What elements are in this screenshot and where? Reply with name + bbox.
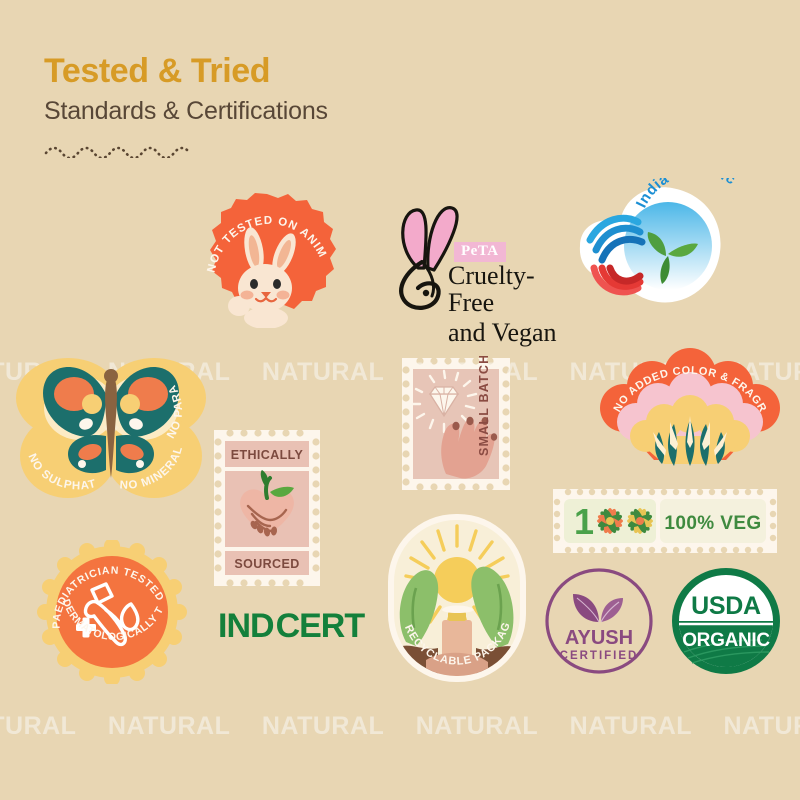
indocert-text-part-2: CERT (276, 607, 365, 646)
not-tested-on-animals-badge[interactable]: NOT TESTED ON ANIMALS (192, 188, 342, 328)
usda-organic-icon: USDA ORGANIC (670, 566, 782, 676)
india-organic-swoosh-icon: India Organic (568, 178, 748, 318)
ethically-sourced-stamp-icon: ETHICALLY SOURCED (212, 428, 322, 588)
watermark-text: NATURAL (0, 712, 76, 752)
small-batch-stamp[interactable]: SMALL BATCH (400, 356, 512, 492)
certifications-poster: NATURAL NATURAL NATURAL NATURAL NATURAL … (0, 0, 800, 800)
watermark-text: NATURAL (262, 358, 384, 398)
watermark-row-bottom: NATURAL NATURAL NATURAL NATURAL NATURAL … (0, 712, 800, 752)
watermark-text: NATURAL (570, 712, 692, 752)
page-title: Tested & Tried (44, 52, 328, 91)
paediatrician-seal-icon: PAEDIATRICIAN TESTED DERMATOLOGICALLY TE… (32, 540, 192, 684)
ethically-label: ETHICALLY (231, 448, 304, 462)
ayush-certified-badge[interactable]: AYUSH CERTIFIED (543, 566, 655, 676)
no-added-color-and-fragrance-badge[interactable]: NO ADDED COLOR & FRAGRANCE (596, 342, 784, 472)
ayush-line-2: CERTIFIED (560, 650, 639, 662)
not-tested-on-animals-seal-icon: NOT TESTED ON ANIMALS (192, 188, 342, 328)
page-header: Tested & Tried Standards & Certification… (44, 52, 328, 163)
india-organic-badge[interactable]: India Organic (568, 178, 748, 318)
watermark-text: NATURAL (724, 712, 800, 752)
usda-line-1: USDA (691, 592, 761, 620)
page-subtitle: Standards & Certifications (44, 97, 328, 126)
peta-tag: PeTA (454, 242, 506, 262)
small-batch-label: SMALL BATCH (477, 356, 491, 456)
watermark-text: NATURAL (108, 712, 230, 752)
small-batch-stamp-icon: SMALL BATCH (400, 356, 512, 492)
usda-line-2: ORGANIC (682, 630, 770, 651)
peta-cruelty-free-and-vegan-badge[interactable]: PeTA Cruelty-Free and Vegan (382, 196, 562, 321)
ayush-line-1: AYUSH (565, 627, 633, 649)
paediatrician-dermatologically-tested-badge[interactable]: PAEDIATRICIAN TESTED DERMATOLOGICALLY TE… (32, 540, 192, 684)
watermark-text: NATURAL (262, 712, 384, 752)
veg-stamp-icon: 1 (552, 488, 778, 554)
veg-label: 100% VEG (664, 513, 761, 534)
cruelty-free-line-1: Cruelty-Free (448, 262, 562, 317)
flower-fan-icon: NO ADDED COLOR & FRAGRANCE (596, 342, 784, 472)
butterfly-icon: NO SULPHATE NO MINERAL OIL NO PARABEN (6, 336, 216, 506)
100-percent-veg-stamp[interactable]: 1 (552, 488, 778, 554)
cruelty-free-line-2: and Vegan (448, 319, 562, 346)
free-from-butterfly-badge[interactable]: NO SULPHATE NO MINERAL OIL NO PARABEN (6, 336, 216, 506)
recyclable-packaging-badge[interactable]: RECYCLABLE PACKAGING (386, 512, 528, 684)
dotted-wave-divider-icon (44, 140, 204, 158)
ayush-certified-icon: AYUSH CERTIFIED (543, 566, 655, 676)
recyclable-packaging-icon: RECYCLABLE PACKAGING (386, 512, 528, 684)
watermark-text: NATURAL (416, 712, 538, 752)
indocert-text-part-1: IND (218, 607, 274, 646)
sourced-label: SOURCED (234, 557, 299, 571)
ethically-sourced-stamp[interactable]: ETHICALLY SOURCED (212, 428, 322, 588)
indocert-logo[interactable]: IND CERT (218, 604, 358, 648)
veg-numeral: 1 (574, 501, 594, 542)
usda-organic-badge[interactable]: USDA ORGANIC (670, 566, 782, 676)
